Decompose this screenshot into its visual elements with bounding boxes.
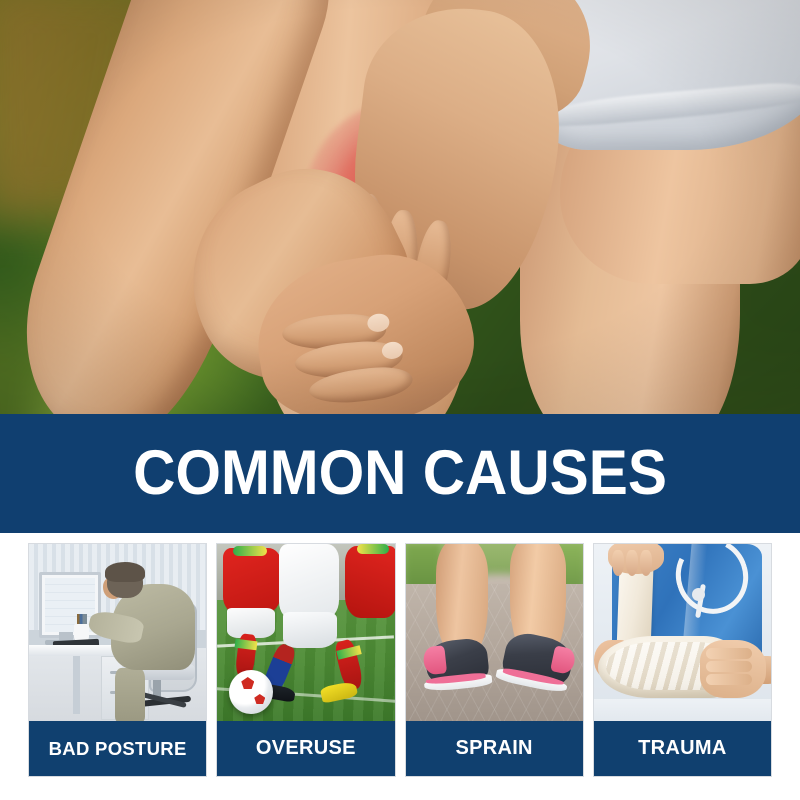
finger — [626, 550, 638, 576]
seated-legs — [115, 668, 145, 722]
card-label-trauma: TRAUMA — [594, 721, 771, 776]
overuse-photo — [217, 544, 394, 723]
trauma-photo — [594, 544, 771, 723]
knee-pain-photo — [0, 0, 800, 414]
jersey-collar — [357, 544, 389, 554]
stethoscope-bell — [692, 588, 705, 601]
desk-leg — [73, 656, 80, 714]
red-jersey-player — [223, 548, 281, 614]
card-label-text: SPRAIN — [455, 737, 532, 760]
finger — [640, 550, 652, 576]
card-label-overuse: OVERUSE — [217, 721, 394, 776]
bad-posture-photo — [29, 544, 206, 723]
cause-card-bad-posture[interactable]: BAD POSTURE — [28, 543, 207, 777]
hair — [105, 562, 145, 582]
sprain-photo — [406, 544, 583, 723]
finger — [612, 550, 624, 576]
card-label-text: TRAUMA — [638, 737, 726, 760]
banner-title: COMMON CAUSES — [133, 442, 667, 505]
finger — [706, 648, 752, 659]
card-label-text: OVERUSE — [256, 737, 356, 760]
red-jersey-player — [345, 546, 394, 618]
card-label-text: BAD POSTURE — [49, 738, 187, 760]
finger — [706, 674, 752, 685]
photo-vignette — [0, 0, 800, 414]
cause-card-trauma[interactable]: TRAUMA — [593, 543, 772, 777]
causes-card-row: BAD POSTURE — [28, 543, 772, 777]
cause-card-overuse[interactable]: OVERUSE — [216, 543, 395, 777]
common-causes-banner: COMMON CAUSES — [0, 414, 800, 533]
jersey-collar — [233, 546, 267, 556]
finger — [706, 661, 752, 672]
card-label-sprain: SPRAIN — [406, 721, 583, 776]
card-label-bad-posture: BAD POSTURE — [29, 721, 206, 776]
photo-bottom-edge — [594, 699, 771, 723]
cause-card-sprain[interactable]: SPRAIN — [405, 543, 584, 777]
infographic-poster: COMMON CAUSES — [0, 0, 800, 800]
soccer-ball-icon — [229, 670, 273, 714]
white-shorts — [283, 612, 337, 648]
white-jersey-player — [279, 544, 339, 620]
